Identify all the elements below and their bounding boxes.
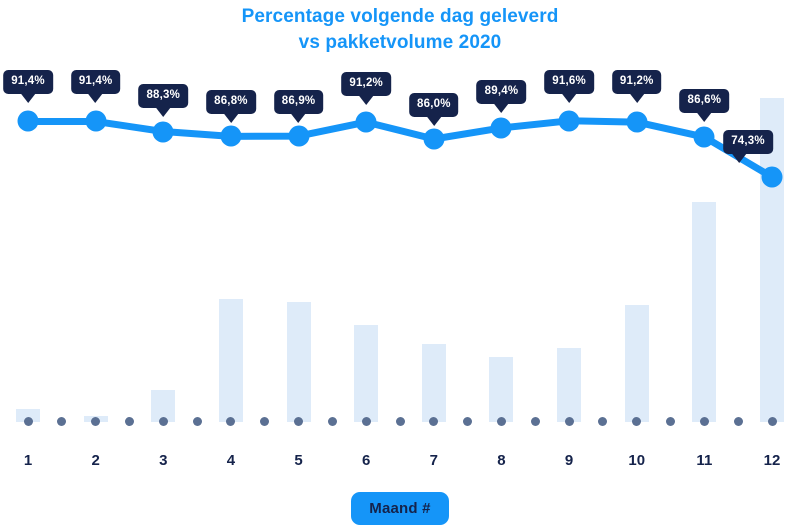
value-label-pointer — [427, 117, 441, 126]
value-label-text: 74,3% — [723, 130, 773, 154]
x-tick-1: 1 — [24, 452, 32, 469]
x-tick-8: 8 — [497, 452, 505, 469]
value-label-pointer — [21, 94, 35, 103]
value-label-month-12: 74,3% — [723, 130, 773, 163]
value-label-month-1: 91,4% — [3, 70, 53, 103]
value-label-pointer — [732, 154, 746, 163]
value-label-pointer — [89, 94, 103, 103]
plot-area: 91,4%91,4%88,3%86,8%86,9%91,2%86,0%89,4%… — [0, 0, 800, 440]
x-tick-11: 11 — [696, 452, 712, 469]
value-label-pointer — [630, 94, 644, 103]
value-label-pointer — [494, 104, 508, 113]
x-tick-6: 6 — [362, 452, 370, 469]
value-label-text: 91,2% — [612, 70, 662, 94]
value-label-text: 91,2% — [341, 72, 391, 96]
value-label-month-8: 89,4% — [477, 80, 527, 113]
x-tick-7: 7 — [430, 452, 438, 469]
value-label-pointer — [156, 108, 170, 117]
value-label-pointer — [359, 96, 373, 105]
value-label-text: 91,6% — [544, 70, 594, 94]
x-tick-2: 2 — [91, 452, 99, 469]
value-label-text: 86,8% — [206, 90, 256, 114]
value-label-text: 86,6% — [680, 89, 730, 113]
value-label-month-4: 86,8% — [206, 90, 256, 123]
value-label-month-3: 88,3% — [138, 84, 188, 117]
value-label-month-10: 91,2% — [612, 70, 662, 103]
value-label-text: 89,4% — [477, 80, 527, 104]
x-tick-5: 5 — [294, 452, 302, 469]
x-tick-9: 9 — [565, 452, 573, 469]
value-label-pointer — [562, 94, 576, 103]
x-tick-10: 10 — [628, 452, 645, 469]
value-label-text: 86,9% — [274, 90, 324, 114]
value-label-month-7: 86,0% — [409, 93, 459, 126]
value-label-month-5: 86,9% — [274, 90, 324, 123]
x-tick-3: 3 — [159, 452, 167, 469]
value-label-text: 91,4% — [71, 70, 121, 94]
value-label-text: 86,0% — [409, 93, 459, 117]
value-label-pointer — [697, 113, 711, 122]
value-label-text: 88,3% — [138, 84, 188, 108]
x-axis-title-pill: Maand # — [351, 492, 448, 525]
value-label-month-9: 91,6% — [544, 70, 594, 103]
x-axis-title-wrap: Maand # — [0, 492, 800, 525]
value-label-month-6: 91,2% — [341, 72, 391, 105]
x-tick-4: 4 — [227, 452, 235, 469]
value-label-month-11: 86,6% — [680, 89, 730, 122]
x-axis-tick-labels: 123456789101112 — [0, 452, 800, 482]
value-label-pointer — [224, 114, 238, 123]
x-tick-12: 12 — [764, 452, 781, 469]
value-label-pointer — [292, 114, 306, 123]
value-label-text: 91,4% — [3, 70, 53, 94]
value-label-row: 91,4%91,4%88,3%86,8%86,9%91,2%86,0%89,4%… — [0, 0, 800, 440]
chart-container: Percentage volgende dag geleverd vs pakk… — [0, 0, 800, 532]
value-label-month-2: 91,4% — [71, 70, 121, 103]
